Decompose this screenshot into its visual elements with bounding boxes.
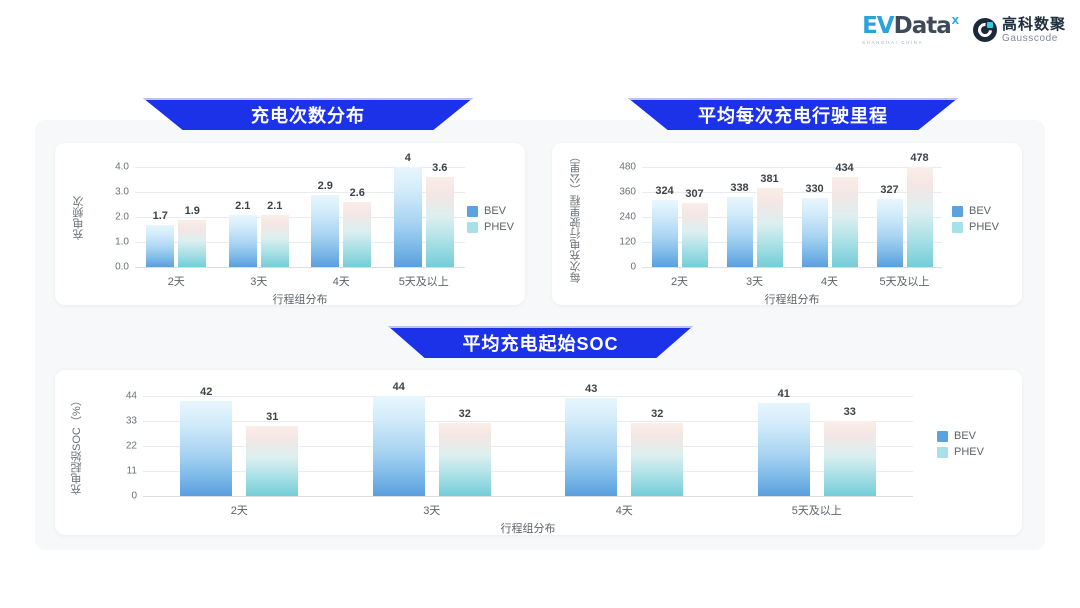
x-axis-tick: 3天: [250, 273, 267, 289]
bar-value-label: 307: [685, 188, 703, 200]
gridline: [143, 396, 913, 397]
gausscode-cn-name: 高科数聚: [1002, 17, 1066, 32]
gausscode-en-name: Gausscode: [1002, 34, 1066, 44]
y-axis-label-line2: （%）: [71, 396, 84, 428]
bar-value-label: 2.6: [350, 187, 365, 199]
bar-value-label: 4: [405, 152, 411, 164]
chart-title-banner-2: 平均每次充电行驶里程: [628, 98, 958, 130]
y-axis-tick: 4.0: [97, 162, 129, 173]
bar-value-label: 1.9: [185, 205, 200, 217]
bar-value-label: 43: [585, 383, 597, 395]
chart-avg-start-soc: 充电起始SOC（%）01122334442312天44323天43324天413…: [55, 370, 1022, 535]
bar-phev-3: [824, 421, 876, 496]
legend-label: BEV: [954, 430, 976, 442]
gridline: [135, 267, 465, 268]
bar-bev-1: [373, 396, 425, 496]
bar-phev-1: [261, 215, 289, 268]
bar-value-label: 44: [393, 381, 405, 393]
x-axis-tick: 5天及以上: [792, 502, 842, 518]
bar-phev-3: [907, 167, 933, 267]
bar-bev-3: [758, 403, 810, 496]
legend-swatch-icon: [467, 222, 478, 233]
bar-value-label: 434: [835, 162, 853, 174]
evdata-prefix: EV: [862, 13, 894, 39]
y-axis-label-line2: （公里）: [570, 151, 583, 195]
legend-label: BEV: [969, 205, 991, 217]
y-axis-tick: 33: [105, 416, 137, 427]
bar-bev-2: [802, 198, 828, 267]
x-axis-tick: 4天: [821, 273, 838, 289]
legend-swatch-icon: [937, 431, 948, 442]
chart-card-avg-mileage: 每次充电行驶里程（公里）01202403604803243072天3383813…: [552, 143, 1022, 305]
chart-charging-frequency: 充电频次0.01.02.03.04.01.71.92天2.12.13天2.92.…: [55, 143, 525, 305]
gausscode-logo: 高科数聚 Gausscode: [973, 17, 1066, 44]
bar-bev-1: [727, 197, 753, 267]
y-axis-tick: 1.0: [97, 237, 129, 248]
gridline: [143, 496, 913, 497]
bar-value-label: 327: [880, 184, 898, 196]
bar-value-label: 381: [760, 173, 778, 185]
evdata-subtitle: SHANGHAI CHINA: [862, 40, 923, 45]
evdata-superscript-icon: x: [952, 13, 959, 26]
legend-item-bev[interactable]: BEV: [952, 205, 999, 217]
bar-bev-3: [394, 167, 422, 267]
bar-phev-2: [631, 423, 683, 496]
bar-value-label: 32: [651, 408, 663, 420]
x-axis-tick: 4天: [333, 273, 350, 289]
y-axis-tick: 0.0: [97, 262, 129, 273]
x-axis-tick: 2天: [168, 273, 185, 289]
x-axis-tick: 3天: [746, 273, 763, 289]
bar-phev-0: [246, 426, 298, 496]
legend-label: BEV: [484, 205, 506, 217]
legend-label: PHEV: [969, 221, 999, 233]
chart-legend: BEVPHEV: [937, 430, 984, 458]
bar-value-label: 2.1: [235, 200, 250, 212]
bar-bev-0: [652, 200, 678, 268]
y-axis-tick: 360: [604, 187, 636, 198]
legend-label: PHEV: [954, 446, 984, 458]
page-header: EVData x SHANGHAI CHINA 高科数聚 Gausscode: [0, 0, 1080, 60]
legend-item-phev[interactable]: PHEV: [952, 221, 999, 233]
x-axis-label: 行程组分布: [501, 520, 556, 536]
gridline: [642, 167, 942, 168]
logo-group: EVData x SHANGHAI CHINA 高科数聚 Gausscode: [862, 15, 1066, 45]
x-axis-label: 行程组分布: [273, 291, 328, 307]
bar-phev-2: [832, 177, 858, 267]
legend-item-bev[interactable]: BEV: [467, 205, 514, 217]
bar-bev-3: [877, 199, 903, 267]
y-axis-tick: 11: [105, 466, 137, 477]
x-axis-tick: 5天及以上: [399, 273, 449, 289]
chart-card-avg-start-soc: 充电起始SOC（%）01122334442312天44323天43324天413…: [55, 370, 1022, 535]
y-axis-tick: 2.0: [97, 212, 129, 223]
legend-item-phev[interactable]: PHEV: [937, 446, 984, 458]
y-axis-label-line1: 充电起始SOC: [71, 427, 84, 495]
chart-title-banner-3: 平均充电起始SOC: [388, 326, 693, 358]
evdata-wordmark-text: EVData: [862, 15, 951, 38]
y-axis-tick: 3.0: [97, 187, 129, 198]
y-axis-label: 充电起始SOC（%）: [71, 388, 84, 503]
evdata-logo: EVData x SHANGHAI CHINA: [862, 15, 959, 45]
legend-label: PHEV: [484, 221, 514, 233]
bar-value-label: 2.1: [267, 200, 282, 212]
bar-value-label: 41: [778, 388, 790, 400]
x-axis-tick: 2天: [231, 502, 248, 518]
y-axis-label: 每次充电行驶里程（公里）: [570, 161, 583, 273]
legend-item-phev[interactable]: PHEV: [467, 221, 514, 233]
bar-phev-1: [439, 423, 491, 496]
chart-title-banner-1: 充电次数分布: [143, 98, 473, 130]
evdata-suffix: Data: [894, 13, 951, 39]
y-axis-tick: 120: [604, 237, 636, 248]
evdata-wordmark: EVData x: [862, 15, 959, 38]
y-axis-tick: 480: [604, 162, 636, 173]
gridline: [642, 267, 942, 268]
y-axis-tick: 240: [604, 212, 636, 223]
bar-value-label: 33: [844, 406, 856, 418]
bar-value-label: 324: [655, 185, 673, 197]
bar-phev-0: [178, 220, 206, 268]
bar-bev-0: [146, 225, 174, 268]
chart-avg-mileage-per-charge: 每次充电行驶里程（公里）01202403604803243072天3383813…: [552, 143, 1022, 305]
bar-phev-0: [682, 203, 708, 267]
y-axis-label: 充电频次: [73, 173, 86, 263]
x-axis-label: 行程组分布: [765, 291, 820, 307]
legend-swatch-icon: [467, 206, 478, 217]
bar-value-label: 330: [805, 183, 823, 195]
bar-value-label: 3.6: [432, 162, 447, 174]
x-axis-tick: 2天: [671, 273, 688, 289]
bar-phev-2: [343, 202, 371, 267]
y-axis-label-line1: 每次充电行驶里程: [570, 195, 583, 283]
bar-phev-1: [757, 188, 783, 267]
bar-value-label: 338: [730, 182, 748, 194]
y-axis-tick: 0: [105, 491, 137, 502]
bar-value-label: 2.9: [318, 180, 333, 192]
y-axis-tick: 22: [105, 441, 137, 452]
chart-legend: BEVPHEV: [952, 205, 999, 233]
x-axis-tick: 5天及以上: [879, 273, 929, 289]
bar-value-label: 478: [910, 152, 928, 164]
y-axis-tick: 44: [105, 391, 137, 402]
legend-swatch-icon: [952, 222, 963, 233]
y-axis-tick: 0: [604, 262, 636, 273]
bar-phev-3: [426, 177, 454, 267]
bar-value-label: 31: [266, 411, 278, 423]
gausscode-text: 高科数聚 Gausscode: [1002, 17, 1066, 44]
legend-item-bev[interactable]: BEV: [937, 430, 984, 442]
bar-value-label: 42: [200, 386, 212, 398]
chart-legend: BEVPHEV: [467, 205, 514, 233]
legend-swatch-icon: [952, 206, 963, 217]
gausscode-mark-icon: [973, 18, 997, 42]
bar-bev-2: [565, 398, 617, 496]
bar-bev-1: [229, 215, 257, 268]
x-axis-tick: 3天: [423, 502, 440, 518]
bar-bev-0: [180, 401, 232, 496]
bar-bev-2: [311, 195, 339, 268]
bar-value-label: 1.7: [153, 210, 168, 222]
legend-swatch-icon: [937, 447, 948, 458]
chart-card-charging-frequency: 充电频次0.01.02.03.04.01.71.92天2.12.13天2.92.…: [55, 143, 525, 305]
x-axis-tick: 4天: [616, 502, 633, 518]
bar-value-label: 32: [459, 408, 471, 420]
